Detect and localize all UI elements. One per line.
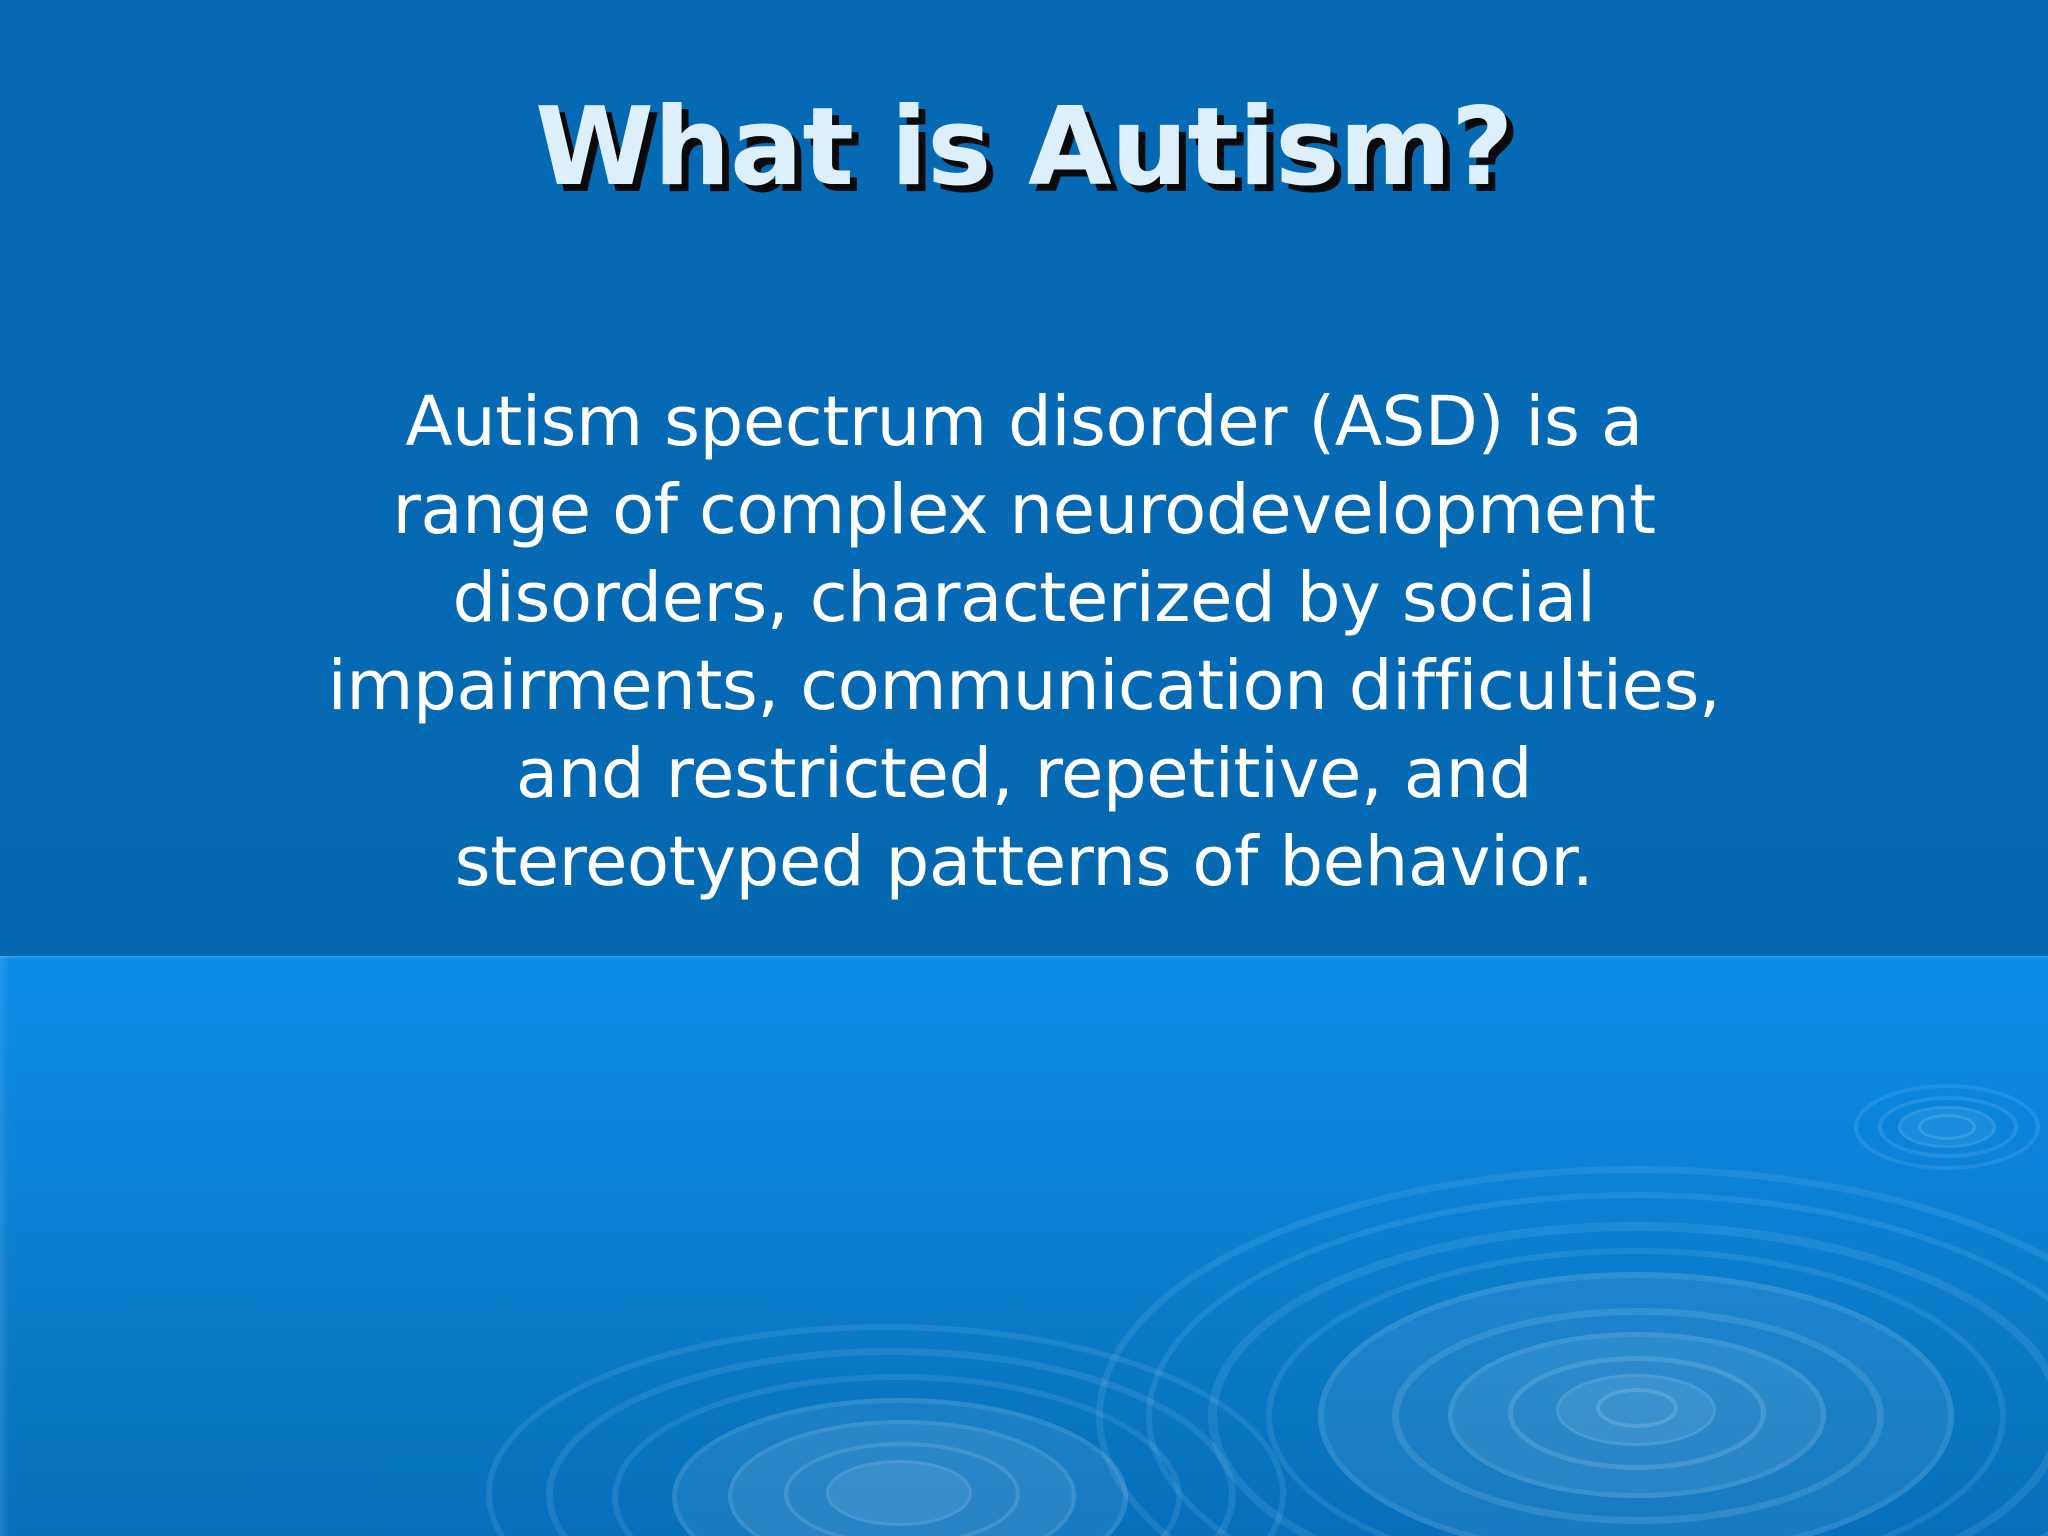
water-edge-highlight: [0, 956, 10, 1536]
body-line: and restricted, repetitive, and: [168, 730, 1880, 818]
slide-title: What is Autism?: [0, 84, 2048, 211]
body-line: range of complex neurodevelopment: [168, 466, 1880, 554]
slide-body-text: Autism spectrum disorder (ASD) is a rang…: [168, 378, 1880, 906]
body-line: Autism spectrum disorder (ASD) is a: [168, 378, 1880, 466]
body-line: disorders, characterized by social: [168, 554, 1880, 642]
body-line: impairments, communication difficulties,: [168, 642, 1880, 730]
slide-background-water: [0, 956, 2048, 1536]
slide-canvas: What is Autism? Autism spectrum disorder…: [0, 0, 2048, 1536]
body-line: stereotyped patterns of behavior.: [168, 818, 1880, 906]
waterline-highlight: [0, 956, 2048, 959]
